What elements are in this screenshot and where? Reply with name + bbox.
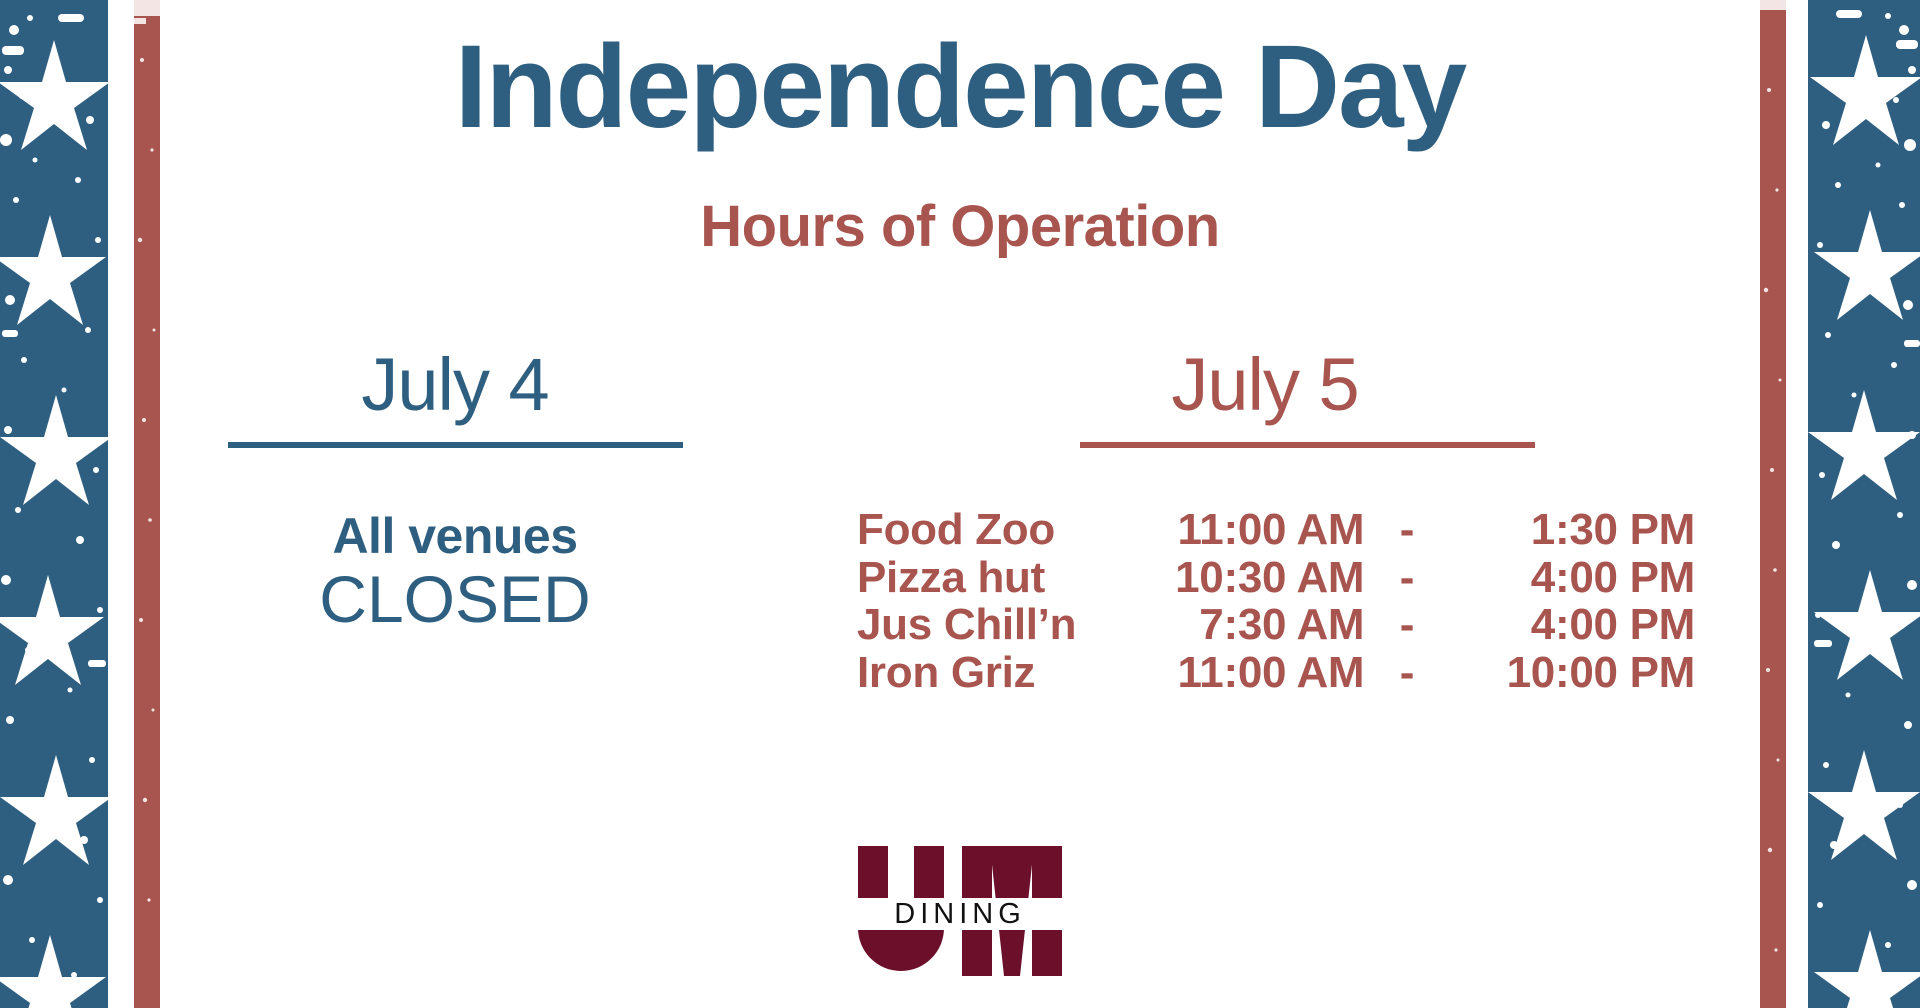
hours-cell-venue: Food Zoo [835, 506, 1163, 554]
hours-cell-open: 7:30 AM [1163, 601, 1365, 649]
flag-stars-band-right-icon [1808, 0, 1920, 1008]
flag-red-stripe-right-icon [1760, 0, 1786, 1008]
hours-cell-venue: Pizza hut [835, 554, 1163, 602]
flag-stars-band-left-icon [0, 0, 108, 1008]
hours-cell-sep: - [1364, 649, 1449, 697]
hours-cell-sep: - [1364, 601, 1449, 649]
hours-cell-close: 1:30 PM [1450, 506, 1695, 554]
july-4-status-line2: CLOSED [195, 563, 715, 636]
hours-cell-open: 11:00 AM [1163, 506, 1365, 554]
hours-row: Pizza hut10:30 AM-4:00 PM [835, 554, 1695, 602]
flag-red-stripe-left-icon [134, 0, 160, 1008]
hours-cell-close: 4:00 PM [1450, 601, 1695, 649]
july-5-hours-table: Food Zoo11:00 AM-1:30 PMPizza hut10:30 A… [835, 506, 1695, 696]
hours-row: Food Zoo11:00 AM-1:30 PM [835, 506, 1695, 554]
hours-cell-venue: Iron Griz [835, 649, 1163, 697]
july-4-column: July 4 All venues CLOSED [195, 348, 715, 635]
july-4-status-line1: All venues [195, 510, 715, 563]
july-4-divider [228, 442, 683, 448]
hours-cell-open: 11:00 AM [1163, 649, 1365, 697]
um-dining-logo: DINING [852, 842, 1068, 980]
um-dining-subword: DINING [894, 898, 1026, 930]
hours-row: Iron Griz11:00 AM-10:00 PM [835, 649, 1695, 697]
independence-day-hours-poster: Independence Day Hours of Operation July… [0, 0, 1920, 1008]
july-5-column: July 5 Food Zoo11:00 AM-1:30 PMPizza hut… [835, 348, 1695, 696]
hours-cell-sep: - [1364, 554, 1449, 602]
july-5-heading: July 5 [835, 348, 1695, 422]
july-4-status: All venues CLOSED [195, 510, 715, 635]
july-5-divider [1080, 442, 1535, 448]
hours-cell-close: 4:00 PM [1450, 554, 1695, 602]
hours-cell-close: 10:00 PM [1450, 649, 1695, 697]
schedule-columns: July 4 All venues CLOSED July 5 Food Zoo… [175, 348, 1745, 768]
page-subtitle: Hours of Operation [175, 198, 1745, 256]
hours-cell-open: 10:30 AM [1163, 554, 1365, 602]
page-title: Independence Day [175, 28, 1745, 146]
hours-cell-sep: - [1364, 506, 1449, 554]
hours-cell-venue: Jus Chill’n [835, 601, 1163, 649]
poster-content: Independence Day Hours of Operation July… [175, 0, 1745, 1008]
july-4-heading: July 4 [195, 348, 715, 422]
hours-row: Jus Chill’n7:30 AM-4:00 PM [835, 601, 1695, 649]
